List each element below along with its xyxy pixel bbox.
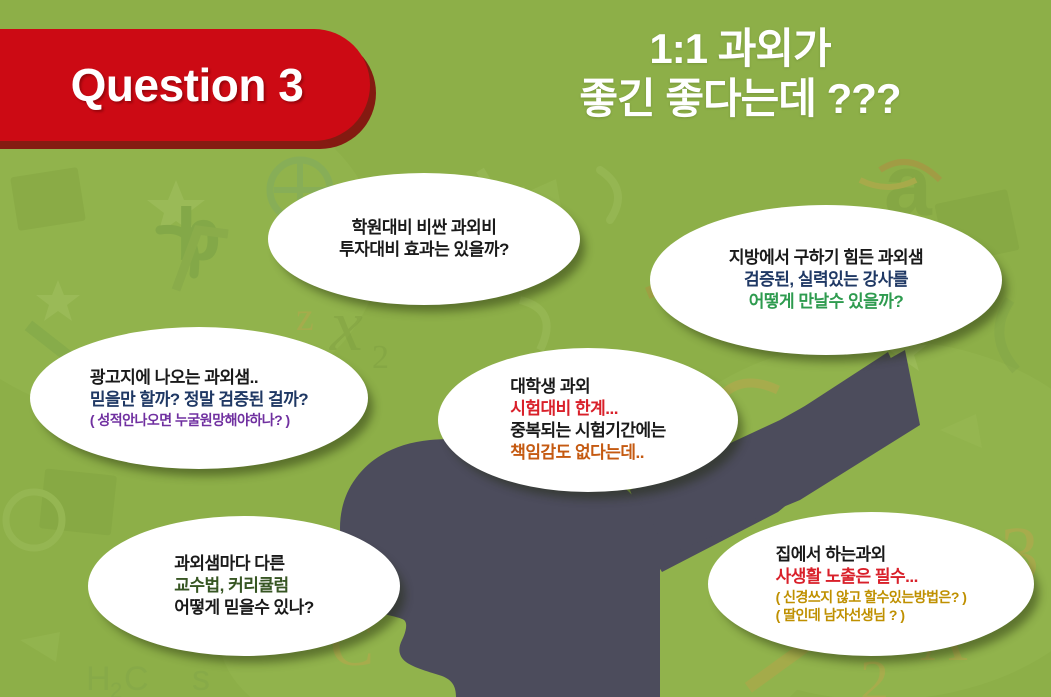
speech-bubble-home-privacy-text: 집에서 하는과외사생활 노출은 필수...( 신경쓰지 않고 할수있는방법은? … — [776, 544, 967, 625]
speech-bubble-cost: 학원대비 비싼 과외비투자대비 효과는 있을까? — [268, 173, 580, 305]
bubble-line: 학원대비 비싼 과외비 — [339, 217, 509, 239]
speech-bubble-region: 지방에서 구하기 힘든 과외샘검증된, 실력있는 강사를어떻게 만날수 있을까? — [650, 205, 1002, 355]
speech-bubble-cost-text: 학원대비 비싼 과외비투자대비 효과는 있을까? — [339, 217, 509, 261]
speech-bubble-home-privacy: 집에서 하는과외사생활 노출은 필수...( 신경쓰지 않고 할수있는방법은? … — [708, 512, 1034, 656]
speech-bubble-university-tutor-text: 대학생 과외시험대비 한계...중복되는 시험기간에는책임감도 없다는데.. — [510, 376, 666, 464]
bubble-line: 사생활 노출은 필수... — [776, 566, 967, 588]
bubble-line: ( 딸인데 남자선생님 ? ) — [776, 606, 967, 624]
bubble-line: 대학생 과외 — [510, 376, 666, 398]
page-title-line-2: 좋긴 좋다는데 ??? — [440, 74, 1040, 124]
question-banner-label: Question 3 — [37, 58, 304, 112]
bubble-line: 광고지에 나오는 과외샘.. — [90, 367, 308, 389]
bubble-line: 책임감도 없다는데.. — [510, 442, 666, 464]
bubble-line: 중복되는 시험기간에는 — [510, 420, 666, 442]
page-title-line-1: 1:1 과외가 — [440, 24, 1040, 74]
bubble-line: 지방에서 구하기 힘든 과외샘 — [729, 247, 923, 269]
bubble-line: 집에서 하는과외 — [776, 544, 967, 566]
speech-bubble-region-text: 지방에서 구하기 힘든 과외샘검증된, 실력있는 강사를어떻게 만날수 있을까? — [729, 247, 923, 313]
speech-bubble-teaching-method-text: 과외샘마다 다른교수법, 커리큘럼어떻게 믿을수 있나? — [174, 553, 313, 619]
bubble-line: 검증된, 실력있는 강사를 — [729, 269, 923, 291]
question-banner: Question 3 — [0, 29, 370, 141]
bubble-line: 투자대비 효과는 있을까? — [339, 239, 509, 261]
speech-bubble-university-tutor: 대학생 과외시험대비 한계...중복되는 시험기간에는책임감도 없다는데.. — [438, 348, 738, 492]
bubble-line: 어떻게 믿을수 있나? — [174, 597, 313, 619]
bubble-line: 어떻게 만날수 있을까? — [729, 291, 923, 313]
slide-canvas: x 2 z a b A 3 C ⌐ H 2 C A 2 s — [0, 0, 1051, 697]
speech-bubble-advertisement-text: 광고지에 나오는 과외샘..믿을만 할까? 정말 검증된 걸까?( 성적안나오면… — [90, 367, 308, 429]
bubble-line: 믿을만 할까? 정말 검증된 걸까? — [90, 389, 308, 411]
speech-bubble-advertisement: 광고지에 나오는 과외샘..믿을만 할까? 정말 검증된 걸까?( 성적안나오면… — [30, 327, 368, 469]
page-title: 1:1 과외가 좋긴 좋다는데 ??? — [440, 24, 1040, 123]
bubble-line: ( 신경쓰지 않고 할수있는방법은? ) — [776, 588, 967, 606]
bubble-line: 교수법, 커리큘럼 — [174, 575, 313, 597]
bubble-line: 과외샘마다 다른 — [174, 553, 313, 575]
speech-bubble-teaching-method: 과외샘마다 다른교수법, 커리큘럼어떻게 믿을수 있나? — [88, 516, 400, 656]
bubble-line: ( 성적안나오면 누굴원망해야하나? ) — [90, 411, 308, 429]
bubble-line: 시험대비 한계... — [510, 398, 666, 420]
